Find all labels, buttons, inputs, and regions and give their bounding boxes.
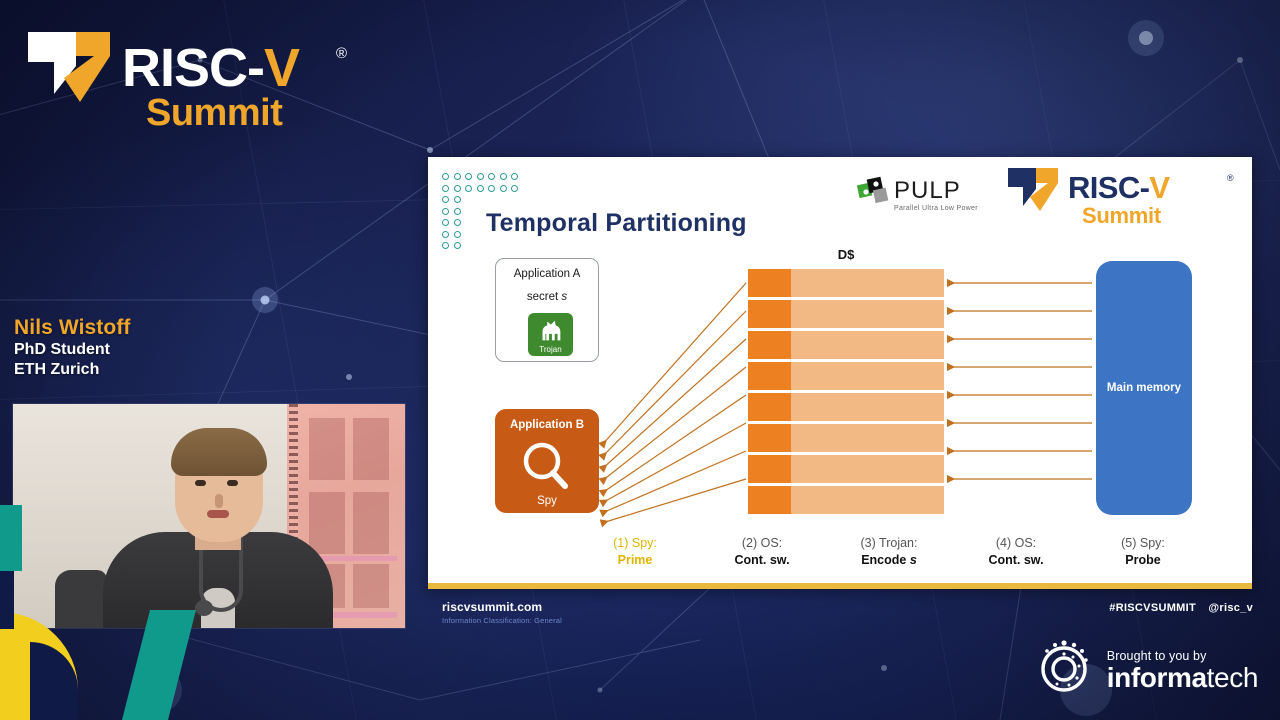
presentation-slide[interactable]: Temporal Partitioning PULP Parallel Ultr… <box>428 157 1252 589</box>
svg-text:RISC-V: RISC-V <box>122 38 300 98</box>
corner-decoration-shapes <box>0 590 300 720</box>
application-b-box[interactable]: Application B Spy <box>495 409 599 513</box>
attack-step-action: Cont. sw. <box>697 552 827 569</box>
footer-handle: @risc_v <box>1208 602 1253 614</box>
cache-row <box>748 455 944 483</box>
riscv-summit-logo: RISC-V ® Summit <box>24 26 354 126</box>
riscv-mark-icon <box>28 32 110 102</box>
attack-step-actor: (2) OS: <box>697 535 827 552</box>
attack-step-actor: (1) Spy: <box>570 535 700 552</box>
speaker-affiliation: ETH Zurich <box>14 360 334 380</box>
footer-left: riscvsummit.com Information Classificati… <box>442 600 562 625</box>
footer-classification: Information Classification: General <box>442 616 562 625</box>
cache-row <box>748 331 944 359</box>
cache-row-tag <box>748 331 791 359</box>
attack-step-action: Prime <box>570 552 700 569</box>
svg-text:®: ® <box>1227 173 1234 183</box>
cache-row <box>748 393 944 421</box>
attack-steps-row: (1) Spy:Prime(2) OS:Cont. sw.(3) Trojan:… <box>570 535 1220 579</box>
cache-row-tag <box>748 393 791 421</box>
data-cache-block[interactable] <box>748 269 944 514</box>
cache-row-tag <box>748 455 791 483</box>
cache-row <box>748 362 944 390</box>
application-a-secret: secret s <box>496 291 598 303</box>
svg-text:PULP: PULP <box>894 177 961 204</box>
informa-wordmark: informatech <box>1107 664 1258 692</box>
application-a-box[interactable]: Application A secret s Trojan <box>495 258 599 362</box>
trojan-horse-icon <box>528 316 573 346</box>
cache-row <box>748 300 944 328</box>
footer-url[interactable]: riscvsummit.com <box>442 600 562 614</box>
cache-label: D$ <box>748 247 944 262</box>
svg-text:Summit: Summit <box>1082 203 1162 227</box>
cache-row-tag <box>748 300 791 328</box>
pulp-mark-icon <box>857 177 888 203</box>
trojan-label: Trojan <box>528 345 573 354</box>
magnifier-spy-icon <box>495 439 599 495</box>
informa-tech-branding: Brought to you by informatech <box>1033 624 1258 698</box>
riscv-mark-icon <box>1008 168 1058 211</box>
cache-row <box>748 269 944 297</box>
svg-text:®: ® <box>336 45 347 62</box>
footer-hashtag: #RISCVSUMMIT <box>1109 602 1196 614</box>
application-b-label: Spy <box>495 495 599 507</box>
attack-step-action: Probe <box>1078 552 1208 569</box>
speaker-name: Nils Wistoff <box>14 316 334 340</box>
attack-step: (4) OS:Cont. sw. <box>951 535 1081 570</box>
cache-row <box>748 424 944 452</box>
cache-row-tag <box>748 424 791 452</box>
attack-step-actor: (4) OS: <box>951 535 1081 552</box>
attack-step-actor: (3) Trojan: <box>824 535 954 552</box>
attack-step: (1) Spy:Prime <box>570 535 700 570</box>
riscv-summit-logo-slide: RISC-V ® Summit <box>1006 165 1238 227</box>
application-a-title: Application A <box>496 268 598 280</box>
cache-row-tag <box>748 362 791 390</box>
informa-ring-icon <box>1033 636 1095 698</box>
navy-accent-bar <box>0 571 14 629</box>
slide-title: Temporal Partitioning <box>486 209 747 238</box>
cache-row-tag <box>748 486 791 514</box>
attack-step-action: Encode s <box>824 552 954 569</box>
screen: RISC-V ® Summit Nils Wistoff PhD Student… <box>0 0 1280 720</box>
attack-step: (3) Trojan:Encode s <box>824 535 954 570</box>
speaker-role: PhD Student <box>14 340 334 360</box>
svg-text:Summit: Summit <box>146 92 283 126</box>
application-b-title: Application B <box>495 419 599 431</box>
attack-step: (5) Spy:Probe <box>1078 535 1208 570</box>
slide-gold-bar <box>428 583 1252 589</box>
cache-row <box>748 486 944 514</box>
main-memory-label: Main memory <box>1096 382 1192 394</box>
attack-step-action: Cont. sw. <box>951 552 1081 569</box>
teal-accent-bar <box>0 505 22 571</box>
cache-row-tag <box>748 269 791 297</box>
attack-step: (2) OS:Cont. sw. <box>697 535 827 570</box>
attack-step-actor: (5) Spy: <box>1078 535 1208 552</box>
pulp-logo: PULP Parallel Ultra Low Power <box>856 172 986 216</box>
trojan-badge[interactable]: Trojan <box>528 313 573 356</box>
footer-social: #RISCVSUMMIT @risc_v <box>1100 602 1253 614</box>
svg-text:RISC-V: RISC-V <box>1068 170 1170 205</box>
speaker-info: Nils Wistoff PhD Student ETH Zurich <box>14 316 334 380</box>
informa-brought-by: Brought to you by <box>1107 649 1258 663</box>
main-memory-block[interactable]: Main memory <box>1096 261 1192 515</box>
pulp-tagline: Parallel Ultra Low Power <box>894 205 978 212</box>
